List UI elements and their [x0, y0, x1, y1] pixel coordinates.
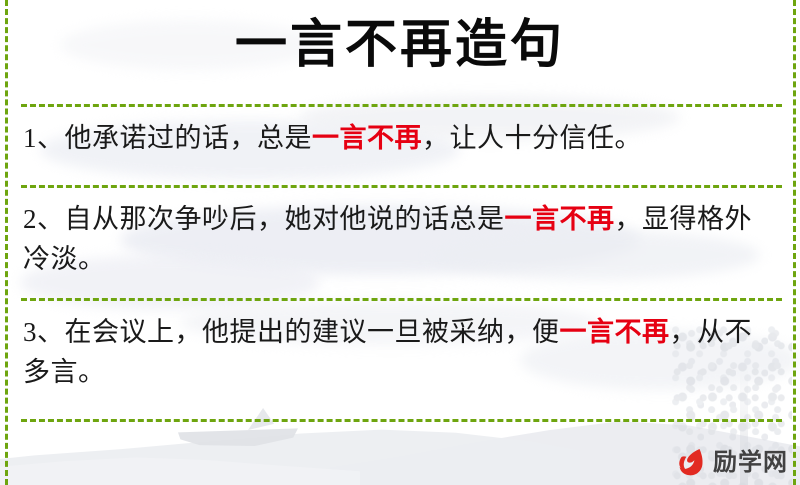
page-title: 一言不再造句: [0, 12, 800, 77]
background-boat: [178, 424, 298, 446]
sentence-highlight-3: 一言不再: [560, 317, 670, 347]
sentence-text-before-1: 他承诺过的话，总是: [65, 123, 313, 153]
red-swirl-bird-logo-icon: [674, 445, 708, 479]
sentence-item-1: 1、他承诺过的话，总是一言不再，让人十分信任。: [21, 104, 776, 185]
sentence-text-before-3: 在会议上，他提出的建议一旦被采纳，便: [65, 317, 560, 347]
sentence-list: 1、他承诺过的话，总是一言不再，让人十分信任。 2、自从那次争吵后，她对他说的话…: [21, 104, 776, 419]
sentence-index-1: 1、: [23, 123, 65, 153]
sentence-item-2: 2、自从那次争吵后，她对他说的话总是一言不再，显得格外冷淡。: [21, 185, 776, 298]
background-mountain-silhouette: [0, 439, 360, 485]
worksheet-page: 一言不再造句 1、他承诺过的话，总是一言不再，让人十分信任。 2、自从那次争吵后…: [0, 0, 800, 485]
sentence-text-after-1: ，让人十分信任。: [422, 123, 642, 153]
sentence-index-2: 2、: [23, 204, 65, 234]
sentence-highlight-2: 一言不再: [505, 204, 615, 234]
sentence-highlight-1: 一言不再: [312, 123, 422, 153]
sentence-text-before-2: 自从那次争吵后，她对他说的话总是: [65, 204, 505, 234]
dashed-separator-4: [21, 419, 782, 422]
sentence-index-3: 3、: [23, 317, 65, 347]
watermark-text: 励学网: [713, 450, 788, 474]
watermark-logo: 励学网: [674, 445, 788, 479]
sentence-item-3: 3、在会议上，他提出的建议一旦被采纳，便一言不再，从不多言。: [21, 298, 776, 419]
